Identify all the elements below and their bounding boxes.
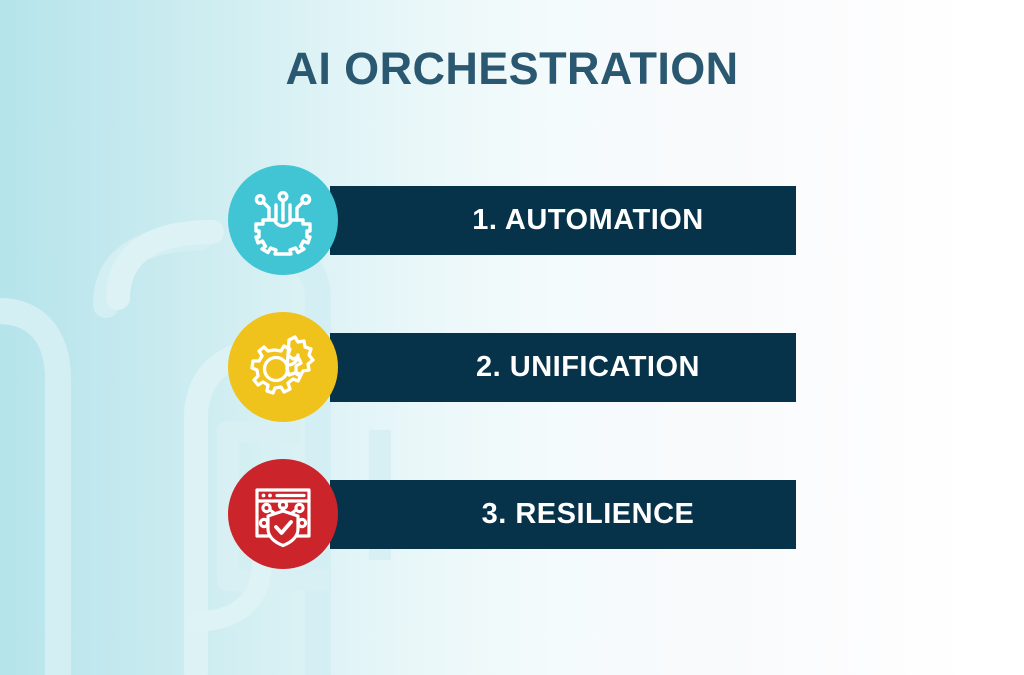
gear-outline (256, 220, 310, 254)
list-item[interactable]: 2. UNIFICATION (228, 312, 796, 422)
items-list: 1. AUTOMATION (0, 0, 1024, 675)
item-badge (228, 165, 338, 275)
item-badge (228, 459, 338, 569)
double-gear-icon (245, 329, 321, 405)
item-bar[interactable]: 3. RESILIENCE (330, 480, 796, 549)
item-bar[interactable]: 2. UNIFICATION (330, 333, 796, 402)
item-label: 2. UNIFICATION (426, 351, 700, 384)
gear-circuit-icon (247, 184, 319, 256)
item-label: 1. AUTOMATION (422, 204, 704, 237)
list-item[interactable]: 1. AUTOMATION (228, 165, 796, 275)
slide-canvas: AI ORCHESTRATION 1. AUTOMATION (0, 0, 1024, 675)
browser-shield-check-icon (246, 477, 320, 551)
list-item[interactable]: 3. RESILIENCE (228, 459, 796, 569)
item-bar[interactable]: 1. AUTOMATION (330, 186, 796, 255)
item-label: 3. RESILIENCE (432, 498, 695, 531)
item-badge (228, 312, 338, 422)
